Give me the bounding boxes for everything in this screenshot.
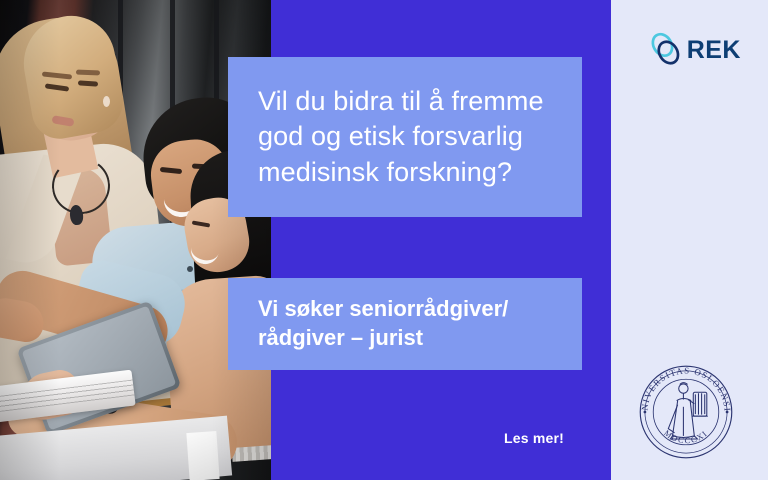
recruitment-banner: Vil du bidra til å fremme god og etisk f… [0,0,768,480]
read-more-link[interactable]: Les mer! [504,430,564,446]
headline-box: Vil du bidra til å fremme god og etisk f… [228,57,582,217]
headline-text: Vil du bidra til å fremme god og etisk f… [228,84,566,189]
job-title-box: Vi søker seniorrådgiver/ rådgiver – juri… [228,278,582,370]
rek-interlocking-rings-icon [649,28,683,72]
job-title-text: Vi søker seniorrådgiver/ rådgiver – juri… [228,295,522,352]
rek-logo[interactable]: REK [649,27,741,73]
rek-wordmark: REK [687,38,741,63]
uio-seal: UNIVERSITAS OSLOENSIS MDCCCXI [634,360,738,464]
